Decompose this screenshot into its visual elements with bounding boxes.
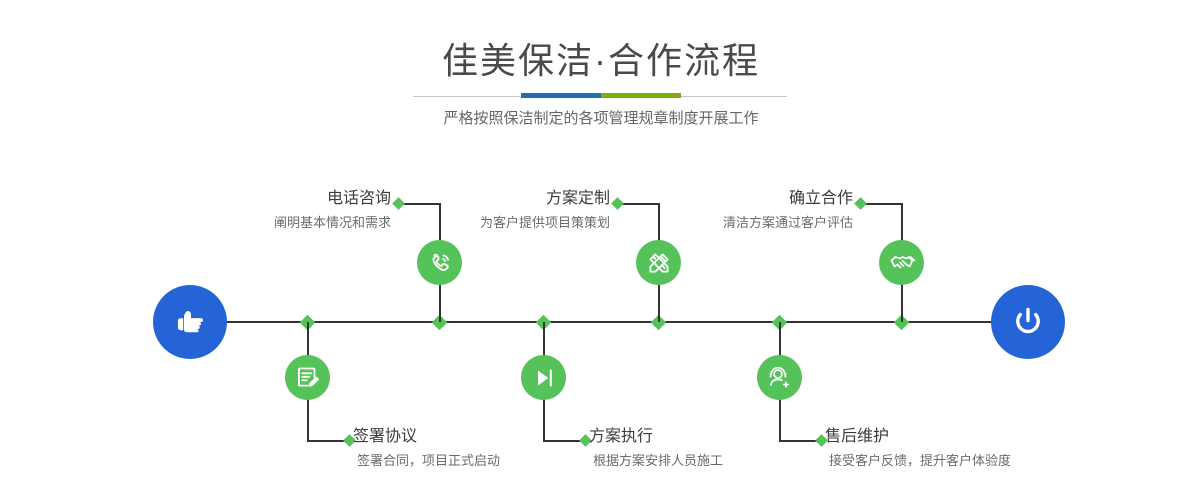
step-desc-2: 签署合同，项目正式启动 — [357, 451, 500, 471]
step-desc-1: 阐明基本情况和需求 — [148, 213, 391, 233]
play-execute-icon — [531, 365, 557, 391]
step-title-3: 方案定制 — [370, 189, 610, 209]
timeline-start-endpoint[interactable] — [153, 285, 227, 359]
title-divider-blue-segment — [521, 93, 601, 98]
step-icon-5[interactable] — [879, 240, 924, 285]
step-desc-4: 根据方案安排人员施工 — [593, 451, 723, 471]
step-label-3: 方案定制 为客户提供项目策策划 — [370, 189, 610, 233]
step-title-2: 签署协议 — [353, 427, 500, 447]
label-marker-step-5 — [854, 197, 867, 210]
step-title-6: 售后维护 — [825, 427, 1011, 447]
step-title-5: 确立合作 — [613, 189, 853, 209]
step-title-4: 方案执行 — [589, 427, 723, 447]
connector-step-6-horizontal — [779, 440, 820, 442]
connector-step-5-horizontal — [861, 203, 902, 205]
step-label-5: 确立合作 清洁方案通过客户评估 — [613, 189, 853, 233]
step-desc-5: 清洁方案通过客户评估 — [613, 213, 853, 233]
timeline-end-endpoint[interactable] — [991, 285, 1065, 359]
step-label-1: 电话咨询 阐明基本情况和需求 — [148, 189, 391, 233]
step-desc-3: 为客户提供项目策策划 — [370, 213, 610, 233]
document-edit-icon — [294, 364, 321, 391]
handshake-icon — [888, 249, 916, 277]
step-icon-4[interactable] — [521, 355, 566, 400]
connector-step-4-horizontal — [543, 440, 584, 442]
pencil-ruler-icon — [645, 249, 673, 277]
title-divider-green-segment — [601, 93, 681, 98]
step-icon-3[interactable] — [636, 240, 681, 285]
step-title-1: 电话咨询 — [148, 189, 391, 209]
step-icon-6[interactable] — [757, 355, 802, 400]
pointing-hand-icon — [172, 304, 208, 340]
customer-support-add-icon — [766, 364, 793, 391]
page-title: 佳美保洁·合作流程 — [0, 38, 1202, 84]
step-label-4: 方案执行 根据方案安排人员施工 — [589, 427, 723, 471]
step-icon-2[interactable] — [285, 355, 330, 400]
power-icon — [1009, 303, 1047, 341]
phone-call-icon — [426, 249, 454, 277]
page-subtitle: 严格按照保洁制定的各项管理规章制度开展工作 — [0, 108, 1202, 130]
connector-step-2-horizontal — [307, 440, 348, 442]
step-label-6: 售后维护 接受客户反馈，提升客户体验度 — [825, 427, 1011, 471]
cooperation-flow-infographic: 佳美保洁·合作流程 严格按照保洁制定的各项管理规章制度开展工作 — [0, 0, 1202, 502]
step-icon-1[interactable] — [417, 240, 462, 285]
step-desc-6: 接受客户反馈，提升客户体验度 — [829, 451, 1011, 471]
step-label-2: 签署协议 签署合同，项目正式启动 — [353, 427, 500, 471]
